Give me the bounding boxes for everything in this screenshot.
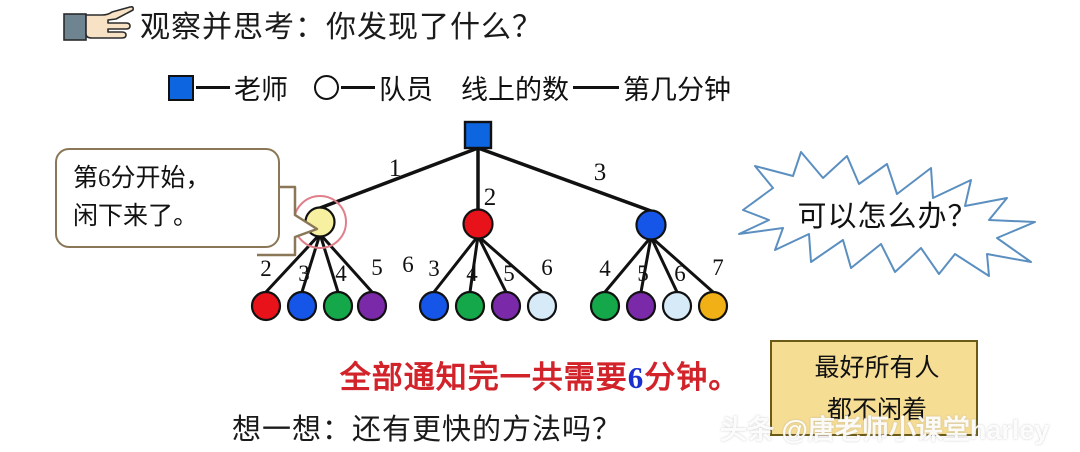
node-leaf-g3-3 (663, 292, 691, 320)
page-title: 观察并思考：你发现了什么？ (62, 2, 543, 46)
tree-edge-g2-3 (478, 236, 506, 292)
node-leaf-g3-1 (591, 292, 619, 320)
node-leaf-g2-2 (456, 292, 484, 320)
node-leaf-g2-3 (492, 292, 520, 320)
legend-dash-2 (341, 86, 375, 89)
legend-member-label: 队员 (379, 68, 433, 107)
edge-label-g2-2: 4 (466, 261, 478, 286)
legend: 老师 队员 线上的数 第几分钟 (168, 68, 733, 107)
speech-bubble-text: 第6分开始， 闲下来了。 (73, 160, 273, 236)
pointing-hand-icon (62, 4, 134, 44)
edge-label-g3-2: 5 (637, 261, 649, 286)
edge-label-g3-4: 7 (712, 255, 724, 280)
node-leaf-g2-1 (420, 292, 448, 320)
node-level1-3 (637, 211, 666, 240)
node-teacher-root (465, 122, 491, 148)
edge-label-g2-1: 3 (428, 256, 440, 281)
edge-label-g2-3: 5 (503, 261, 515, 286)
tree-edge-g3-4 (651, 237, 713, 292)
legend-minute-prefix: 线上的数 (461, 68, 569, 107)
legend-teacher-label: 老师 (234, 68, 288, 107)
bottom-question: 想一想：还有更快的方法吗？ (232, 406, 622, 448)
speech-bubble-line-2: 闲下来了。 (73, 198, 273, 236)
node-leaf-g1-4 (358, 292, 386, 320)
speech-bubble-line-1: 第6分开始， (73, 160, 273, 198)
edge-label-extra-g1: 6 (402, 252, 414, 277)
node-leaf-g1-1 (252, 292, 280, 320)
legend-dash-1 (196, 86, 230, 89)
speech-bubble: 第6分开始， 闲下来了。 (55, 148, 280, 248)
edge-label-g1-3: 4 (335, 261, 347, 286)
node-leaf-g1-2 (288, 292, 316, 320)
legend-teacher-square-icon (168, 75, 194, 101)
edge-label-g3-1: 4 (599, 256, 611, 281)
starburst-text: 可以怎么办？ (735, 150, 1040, 278)
tree-edge-g3-3 (651, 237, 677, 292)
summary-number: 6 (628, 360, 645, 395)
edge-label-root-3: 3 (594, 159, 607, 186)
edge-label-g1-2: 3 (298, 261, 310, 286)
tree-edge-g3-1 (605, 237, 651, 292)
legend-minute-label: 第几分钟 (623, 68, 731, 107)
summary-suffix: 分钟。 (644, 360, 740, 395)
tree-edge-g2-1 (434, 236, 478, 292)
node-level1-2 (464, 210, 493, 239)
node-leaf-g2-4 (528, 292, 556, 320)
edge-label-g1-4: 5 (371, 255, 383, 280)
node-leaf-g3-2 (627, 292, 655, 320)
watermark: 头条 @唐老师小课堂harley (720, 408, 1049, 447)
yellow-note-line-1: 最好所有人 (782, 348, 972, 390)
slide-canvas: 观察并思考：你发现了什么？ 老师 队员 线上的数 第几分钟 1232345634… (0, 0, 1080, 452)
legend-dash-3 (573, 86, 619, 89)
legend-member-circle-icon (314, 75, 339, 100)
edge-label-g2-4: 6 (541, 255, 553, 280)
edge-label-root-1: 1 (389, 155, 402, 182)
node-leaf-g1-3 (324, 292, 352, 320)
page-title-text: 观察并思考：你发现了什么？ (140, 2, 543, 46)
tree-edge-root-3 (478, 148, 651, 211)
edge-label-root-2: 2 (484, 184, 497, 211)
starburst-callout: 可以怎么办？ (735, 150, 1040, 278)
tree-edge-root-1 (320, 148, 478, 208)
summary-prefix: 全部通知完一共需要 (340, 360, 628, 395)
edge-label-g3-3: 6 (674, 261, 686, 286)
tree-edge-g2-4 (478, 236, 542, 292)
tree-edge-g2-2 (470, 236, 478, 292)
tree-edge-g3-2 (641, 237, 651, 292)
node-leaf-g3-4 (699, 292, 727, 320)
